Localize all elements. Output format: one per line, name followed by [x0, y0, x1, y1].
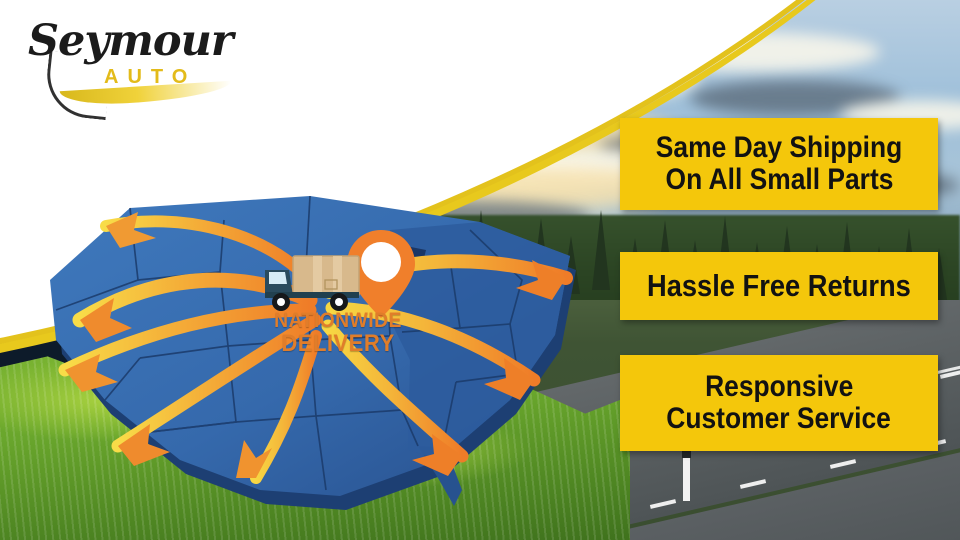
panel1-line1: Same Day Shipping: [656, 132, 902, 164]
panel3-line1: Responsive: [705, 371, 853, 403]
panel3-line2: Customer Service: [667, 403, 892, 435]
panel-hassle-free-returns[interactable]: Hassle Free Returns: [620, 252, 938, 320]
road-marker-cap: [682, 450, 691, 458]
delivery-caption-line2: DELIVERY: [260, 332, 416, 357]
panel-same-day-shipping[interactable]: Same Day Shipping On All Small Parts: [620, 118, 938, 210]
panel1-line2: On All Small Parts: [665, 164, 893, 196]
panel2-line1: Hassle Free Returns: [647, 269, 911, 302]
delivery-caption: NATIONWIDE DELIVERY: [253, 310, 423, 357]
brand-logo[interactable]: Seymour AUTO: [18, 14, 248, 104]
delivery-caption-line1: NATIONWIDE: [260, 310, 416, 332]
brand-name: Seymour: [28, 16, 233, 66]
promo-banner: Seymour AUTO: [0, 0, 960, 540]
nationwide-delivery-badge: NATIONWIDE DELIVERY: [255, 228, 420, 358]
brand-subtitle: AUTO: [104, 66, 196, 89]
road-marker-post: [683, 455, 690, 501]
panel-responsive-customer-service[interactable]: Responsive Customer Service: [620, 355, 938, 451]
delivery-truck-icon: [263, 252, 373, 314]
